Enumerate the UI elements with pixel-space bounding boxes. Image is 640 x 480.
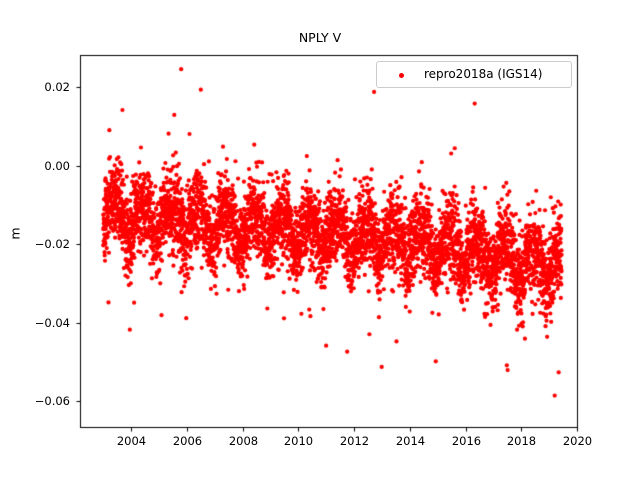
legend-marker-icon [399,73,404,78]
figure-canvas-container: NPLY V m 0.020.00−0.02−0.04−0.06 2004200… [0,0,640,480]
legend: repro2018a (IGS14) [376,61,572,88]
legend-entry-label: repro2018a (IGS14) [424,67,542,81]
